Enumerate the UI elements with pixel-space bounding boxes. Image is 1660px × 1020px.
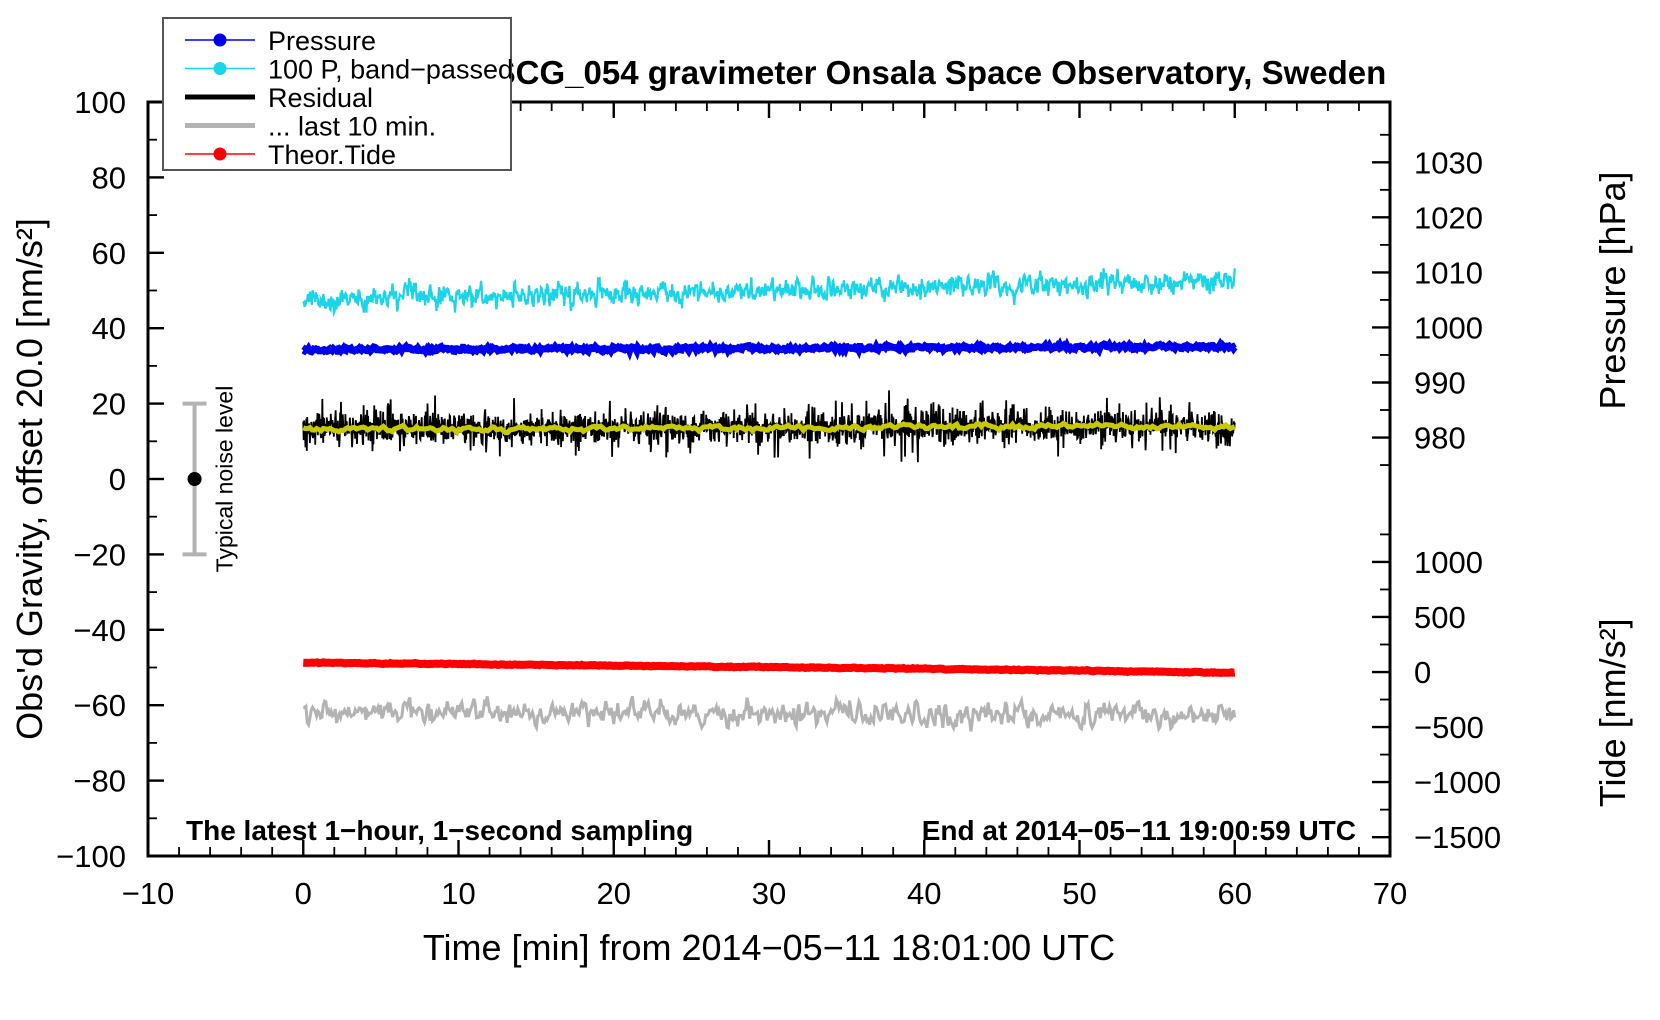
legend-marker-1 bbox=[214, 34, 227, 47]
pressure-axis-title: Pressure [hPa] bbox=[1592, 171, 1633, 409]
pressure-axis-tick-label: 1000 bbox=[1414, 310, 1483, 345]
gravimeter-plot-page: −10010203040506070Time [min] from 2014−0… bbox=[0, 0, 1660, 1020]
y-axis-title: Obs'd Gravity, offset 20.0 [nm/s²] bbox=[9, 218, 50, 740]
y-axis-tick-label: 0 bbox=[109, 462, 126, 497]
x-axis-tick-label: 60 bbox=[1218, 876, 1252, 911]
x-axis-tick-label: 20 bbox=[597, 876, 631, 911]
y-axis-tick-label: −20 bbox=[73, 537, 126, 572]
legend-marker-5 bbox=[214, 148, 227, 161]
noise-level-label: Typical noise level bbox=[212, 386, 238, 573]
x-axis-tick-label: 50 bbox=[1062, 876, 1096, 911]
legend-marker-2 bbox=[214, 62, 227, 75]
tide-axis-tick-label: −1500 bbox=[1414, 820, 1501, 855]
pressure-axis-tick-label: 1020 bbox=[1414, 200, 1483, 235]
pressure-axis-tick-label: 990 bbox=[1414, 365, 1466, 400]
x-axis-tick-label: 40 bbox=[907, 876, 941, 911]
y-axis-tick-label: 40 bbox=[92, 311, 126, 346]
legend-label-4: ... last 10 min. bbox=[268, 112, 436, 142]
y-axis-tick-label: −60 bbox=[73, 688, 126, 723]
y-axis-tick-label: 60 bbox=[92, 236, 126, 271]
x-axis-tick-label: 0 bbox=[295, 876, 312, 911]
y-axis-tick-label: 20 bbox=[92, 387, 126, 422]
noise-bar-center-dot bbox=[188, 472, 202, 486]
pressure-axis-tick-label: 1030 bbox=[1414, 145, 1483, 180]
tide-axis-tick-label: 1000 bbox=[1414, 545, 1483, 580]
footer-left-text: The latest 1−hour, 1−second sampling bbox=[186, 815, 693, 846]
tide-axis-tick-label: −500 bbox=[1414, 710, 1484, 745]
x-axis-tick-label: 10 bbox=[441, 876, 475, 911]
tide-axis-tick-label: 500 bbox=[1414, 600, 1466, 635]
legend-label-5: Theor.Tide bbox=[268, 140, 396, 170]
y-axis-tick-label: 80 bbox=[92, 160, 126, 195]
x-axis-title: Time [min] from 2014−05−11 18:01:00 UTC bbox=[423, 927, 1115, 968]
footer-right-text: End at 2014−05−11 19:00:59 UTC bbox=[922, 815, 1356, 846]
y-axis-tick-label: 100 bbox=[74, 85, 126, 120]
page-title: SCG_054 gravimeter Onsala Space Observat… bbox=[494, 54, 1387, 91]
y-axis-tick-label: −80 bbox=[73, 764, 126, 799]
y-axis-tick-label: −40 bbox=[73, 613, 126, 648]
tide-axis-title: Tide [nm/s²] bbox=[1592, 618, 1633, 807]
pressure-axis-tick-label: 980 bbox=[1414, 421, 1466, 456]
legend-label-3: Residual bbox=[268, 83, 373, 113]
tide-axis-tick-label: 0 bbox=[1414, 655, 1431, 690]
legend-label-2: 100 P, band−passed bbox=[268, 55, 513, 85]
x-axis-tick-label: 30 bbox=[752, 876, 786, 911]
x-axis-tick-label: −10 bbox=[122, 876, 175, 911]
pressure-axis-tick-label: 1010 bbox=[1414, 255, 1483, 290]
tide-axis-tick-label: −1000 bbox=[1414, 765, 1501, 800]
gravimeter-chart: −10010203040506070Time [min] from 2014−0… bbox=[0, 0, 1660, 1020]
y-axis-tick-label: −100 bbox=[56, 839, 126, 874]
legend-label-1: Pressure bbox=[268, 26, 376, 56]
x-axis-tick-label: 70 bbox=[1373, 876, 1407, 911]
